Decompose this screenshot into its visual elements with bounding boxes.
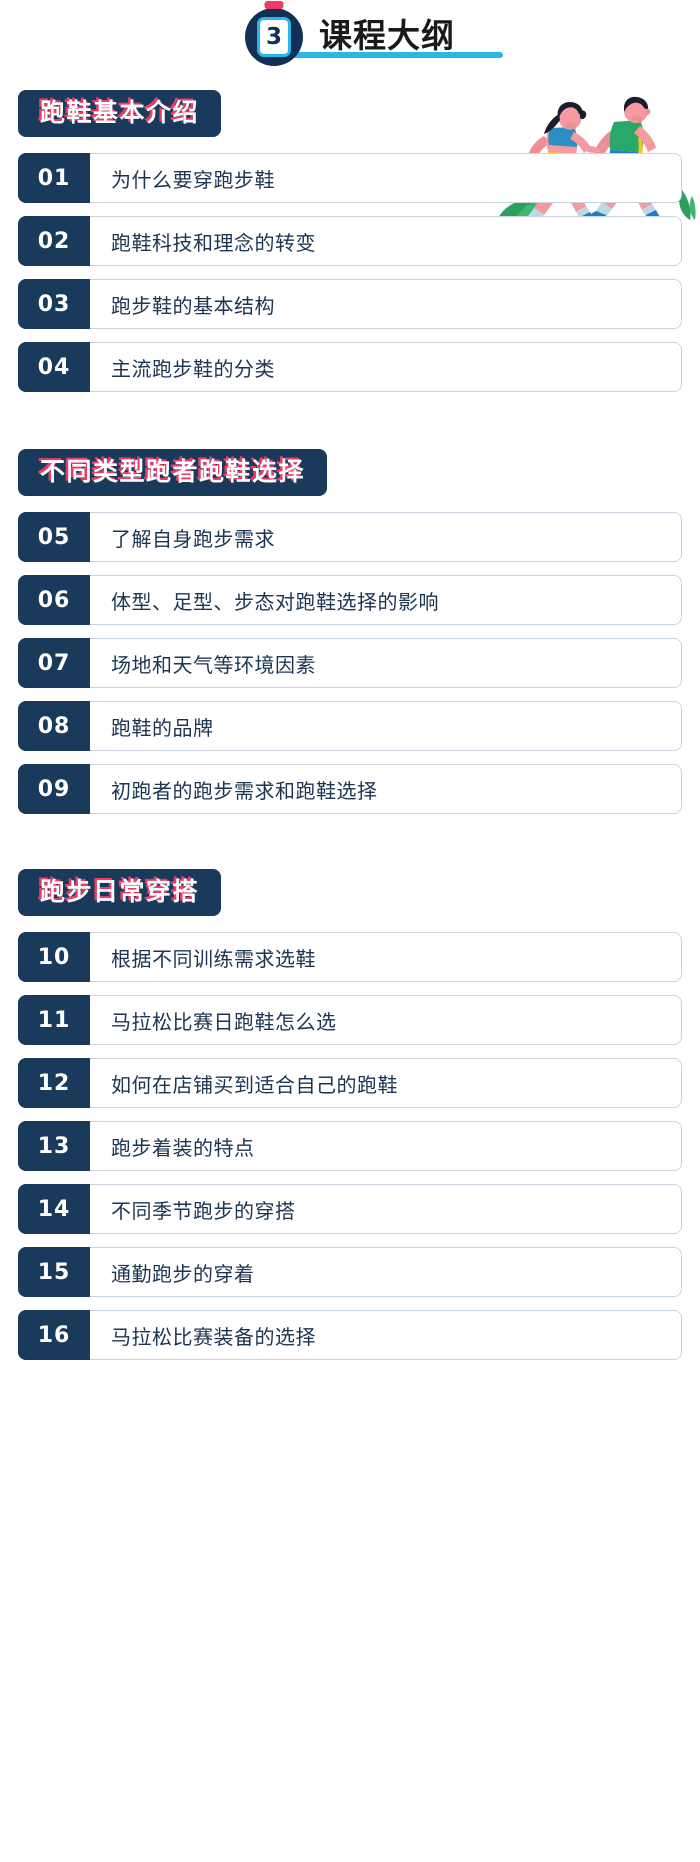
- list-item-number: 05: [18, 512, 90, 562]
- list-item-number: 02: [18, 216, 90, 266]
- list-item-label: 初跑者的跑步需求和跑鞋选择: [90, 764, 682, 814]
- outline-section: 不同类型跑者跑鞋选择05了解自身跑步需求06体型、足型、步态对跑鞋选择的影响07…: [0, 449, 700, 814]
- list-item-label: 跑鞋的品牌: [90, 701, 682, 751]
- list-item-label: 跑鞋科技和理念的转变: [90, 216, 682, 266]
- section-title-badge: 不同类型跑者跑鞋选择: [18, 449, 327, 496]
- clipboard-icon: 3: [245, 8, 303, 66]
- list-item-number: 12: [18, 1058, 90, 1108]
- list-item-label: 马拉松比赛装备的选择: [90, 1310, 682, 1360]
- page-title: 课程大纲: [319, 19, 455, 56]
- list-item-label: 不同季节跑步的穿搭: [90, 1184, 682, 1234]
- list-item[interactable]: 03跑步鞋的基本结构: [18, 279, 682, 329]
- list-item-number: 15: [18, 1247, 90, 1297]
- list-item-label: 了解自身跑步需求: [90, 512, 682, 562]
- list-item-label: 马拉松比赛日跑鞋怎么选: [90, 995, 682, 1045]
- list-item[interactable]: 14不同季节跑步的穿搭: [18, 1184, 682, 1234]
- section-title-wrapper: 不同类型跑者跑鞋选择: [0, 449, 700, 496]
- list-item-number: 06: [18, 575, 90, 625]
- outline-section: 跑步日常穿搭10根据不同训练需求选鞋11马拉松比赛日跑鞋怎么选12如何在店铺买到…: [0, 869, 700, 1360]
- page-header: 3 课程大纲: [0, 0, 700, 90]
- list-item[interactable]: 02跑鞋科技和理念的转变: [18, 216, 682, 266]
- list-item[interactable]: 15通勤跑步的穿着: [18, 1247, 682, 1297]
- header-inner: 3 课程大纲: [245, 8, 455, 66]
- list-item-number: 04: [18, 342, 90, 392]
- section-title-badge: 跑步日常穿搭: [18, 869, 221, 916]
- list-item-number: 16: [18, 1310, 90, 1360]
- section-item-list: 10根据不同训练需求选鞋11马拉松比赛日跑鞋怎么选12如何在店铺买到适合自己的跑…: [0, 932, 700, 1360]
- course-outline-sections: 跑鞋基本介绍01为什么要穿跑步鞋02跑鞋科技和理念的转变03跑步鞋的基本结构04…: [0, 90, 700, 1360]
- list-item-label: 通勤跑步的穿着: [90, 1247, 682, 1297]
- list-item[interactable]: 08跑鞋的品牌: [18, 701, 682, 751]
- list-item[interactable]: 13跑步着装的特点: [18, 1121, 682, 1171]
- list-item-number: 10: [18, 932, 90, 982]
- list-item-number: 08: [18, 701, 90, 751]
- list-item[interactable]: 01为什么要穿跑步鞋: [18, 153, 682, 203]
- list-item[interactable]: 05了解自身跑步需求: [18, 512, 682, 562]
- clipboard-number: 3: [266, 26, 282, 49]
- list-item[interactable]: 12如何在店铺买到适合自己的跑鞋: [18, 1058, 682, 1108]
- list-item-label: 如何在店铺买到适合自己的跑鞋: [90, 1058, 682, 1108]
- section-title-wrapper: 跑步日常穿搭: [0, 869, 700, 916]
- list-item-number: 13: [18, 1121, 90, 1171]
- header-underline-dash: [464, 52, 477, 58]
- list-item[interactable]: 07场地和天气等环境因素: [18, 638, 682, 688]
- list-item[interactable]: 06体型、足型、步态对跑鞋选择的影响: [18, 575, 682, 625]
- clipboard-clip-icon: [265, 1, 284, 9]
- list-item-number: 09: [18, 764, 90, 814]
- list-item-label: 场地和天气等环境因素: [90, 638, 682, 688]
- section-title-wrapper: 跑鞋基本介绍: [0, 90, 700, 137]
- section-title-badge: 跑鞋基本介绍: [18, 90, 221, 137]
- list-item-number: 07: [18, 638, 90, 688]
- list-item[interactable]: 09初跑者的跑步需求和跑鞋选择: [18, 764, 682, 814]
- list-item-label: 为什么要穿跑步鞋: [90, 153, 682, 203]
- section-title-label: 不同类型跑者跑鞋选择: [40, 459, 305, 484]
- section-title-label: 跑步日常穿搭: [40, 879, 199, 904]
- list-item[interactable]: 11马拉松比赛日跑鞋怎么选: [18, 995, 682, 1045]
- section-item-list: 05了解自身跑步需求06体型、足型、步态对跑鞋选择的影响07场地和天气等环境因素…: [0, 512, 700, 814]
- list-item[interactable]: 10根据不同训练需求选鞋: [18, 932, 682, 982]
- section-spacer: [0, 405, 700, 449]
- list-item[interactable]: 16马拉松比赛装备的选择: [18, 1310, 682, 1360]
- list-item-label: 体型、足型、步态对跑鞋选择的影响: [90, 575, 682, 625]
- list-item[interactable]: 04主流跑步鞋的分类: [18, 342, 682, 392]
- list-item-label: 主流跑步鞋的分类: [90, 342, 682, 392]
- section-item-list: 01为什么要穿跑步鞋02跑鞋科技和理念的转变03跑步鞋的基本结构04主流跑步鞋的…: [0, 153, 700, 392]
- section-spacer: [0, 827, 700, 869]
- clipboard-body: 3: [257, 17, 291, 57]
- outline-section: 跑鞋基本介绍01为什么要穿跑步鞋02跑鞋科技和理念的转变03跑步鞋的基本结构04…: [0, 90, 700, 392]
- list-item-label: 跑步着装的特点: [90, 1121, 682, 1171]
- list-item-number: 11: [18, 995, 90, 1045]
- section-title-label: 跑鞋基本介绍: [40, 100, 199, 125]
- list-item-number: 01: [18, 153, 90, 203]
- list-item-number: 14: [18, 1184, 90, 1234]
- list-item-label: 跑步鞋的基本结构: [90, 279, 682, 329]
- list-item-number: 03: [18, 279, 90, 329]
- list-item-label: 根据不同训练需求选鞋: [90, 932, 682, 982]
